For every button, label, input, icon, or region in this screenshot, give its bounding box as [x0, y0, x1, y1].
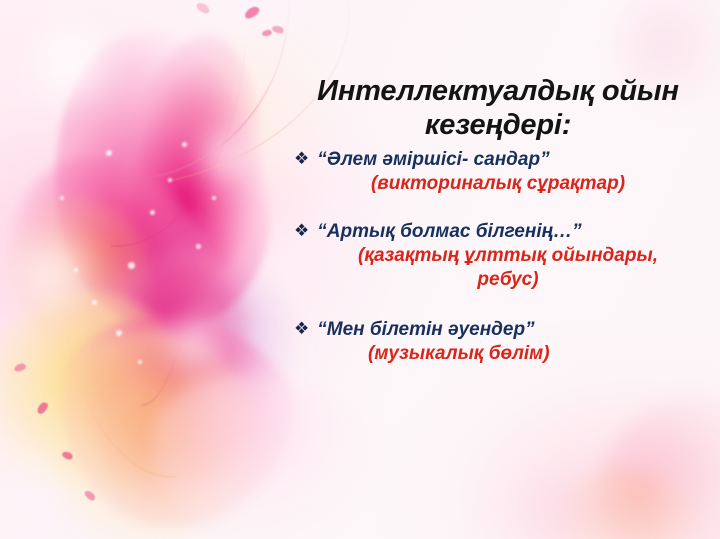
diamond-bullet-icon: ❖	[294, 221, 309, 242]
sparkle-dot	[60, 196, 64, 200]
bullet-item-3-head: ❖ “Мен білетін әуендер”	[276, 318, 720, 341]
stamen-stroke-4	[141, 115, 211, 408]
petal-magenta-upper-left	[19, 9, 295, 351]
flying-petal-fleck	[262, 29, 273, 37]
highlight-glow	[150, 300, 240, 380]
sparkle-dot	[106, 150, 112, 156]
petal-magenta-left	[0, 119, 268, 440]
highlight-glow	[186, 120, 266, 192]
flying-petal-fleck	[195, 1, 211, 16]
bullet-item-3-subtitle: (музыкалық бөлім)	[276, 342, 720, 366]
bullet-item-2-subtitle-line-2: ребус)	[276, 268, 720, 292]
sparkle-dot	[182, 142, 187, 147]
flying-petal-fleck	[13, 362, 26, 372]
highlight-glow	[10, 16, 130, 112]
sparkle-dot	[196, 244, 201, 249]
flying-petal-fleck	[35, 400, 50, 415]
bullet-item-1-head: ❖ “Әлем әміршісі- сандар”	[276, 148, 720, 171]
bullet-item-2-title: “Артық болмас білгенің…”	[317, 220, 581, 243]
bullet-item-1: ❖ “Әлем әміршісі- сандар” (викториналық …	[276, 148, 720, 196]
petal-yellow-lower-left	[0, 264, 217, 525]
petal-magenta-core	[120, 250, 250, 400]
sparkle-dot	[128, 262, 135, 269]
flying-petal-fleck	[243, 5, 261, 21]
bullet-item-2-subtitle: (қазақтың ұлттық ойындары,	[276, 244, 720, 268]
petal-orange-bottom	[88, 361, 279, 539]
bullet-item-1-title: “Әлем әміршісі- сандар”	[317, 148, 549, 171]
slide-title-line-1: Интеллектуалдық ойын	[276, 74, 720, 108]
flying-petal-fleck	[83, 489, 96, 502]
stamen-stroke-3	[111, 36, 245, 255]
sparkle-dot	[212, 196, 216, 200]
slide-title: Интеллектуалдық ойын кезеңдері:	[276, 74, 720, 142]
bullet-item-3-title: “Мен білетін әуендер”	[317, 318, 534, 341]
petal-magenta-lower	[50, 307, 301, 539]
diamond-bullet-icon: ❖	[294, 149, 309, 170]
petal-violet-center	[69, 186, 236, 385]
bullet-item-2-head: ❖ “Артық болмас білгенің…”	[276, 220, 720, 243]
presentation-slide: Интеллектуалдық ойын кезеңдері: ❖ “Әлем …	[0, 0, 720, 539]
highlight-glow	[0, 228, 110, 318]
sparkle-dot	[168, 178, 172, 182]
petal-yellow-mid-left	[0, 169, 180, 374]
stamen-stroke-5	[64, 297, 176, 485]
petal-yellow-bottom	[26, 311, 274, 539]
slide-title-line-2: кезеңдері:	[276, 108, 720, 142]
sparkle-dot	[150, 210, 155, 215]
flying-petal-fleck	[61, 450, 74, 461]
sparkle-dot	[116, 330, 122, 336]
bullet-list: ❖ “Әлем әміршісі- сандар” (викториналық …	[276, 148, 720, 384]
petal-magenta-upper-right	[103, 25, 280, 294]
sparkle-dot	[138, 360, 142, 364]
bullet-item-1-subtitle: (викториналық сұрақтар)	[276, 172, 720, 196]
bullet-item-2: ❖ “Артық болмас білгенің…” (қазақтың ұлт…	[276, 220, 720, 292]
diamond-bullet-icon: ❖	[294, 319, 309, 340]
sparkle-dot	[92, 300, 97, 305]
sparkle-dot	[74, 268, 78, 272]
bullet-item-3: ❖ “Мен білетін әуендер” (музыкалық бөлім…	[276, 318, 720, 366]
slide-text-content: Интеллектуалдық ойын кезеңдері: ❖ “Әлем …	[276, 0, 720, 539]
